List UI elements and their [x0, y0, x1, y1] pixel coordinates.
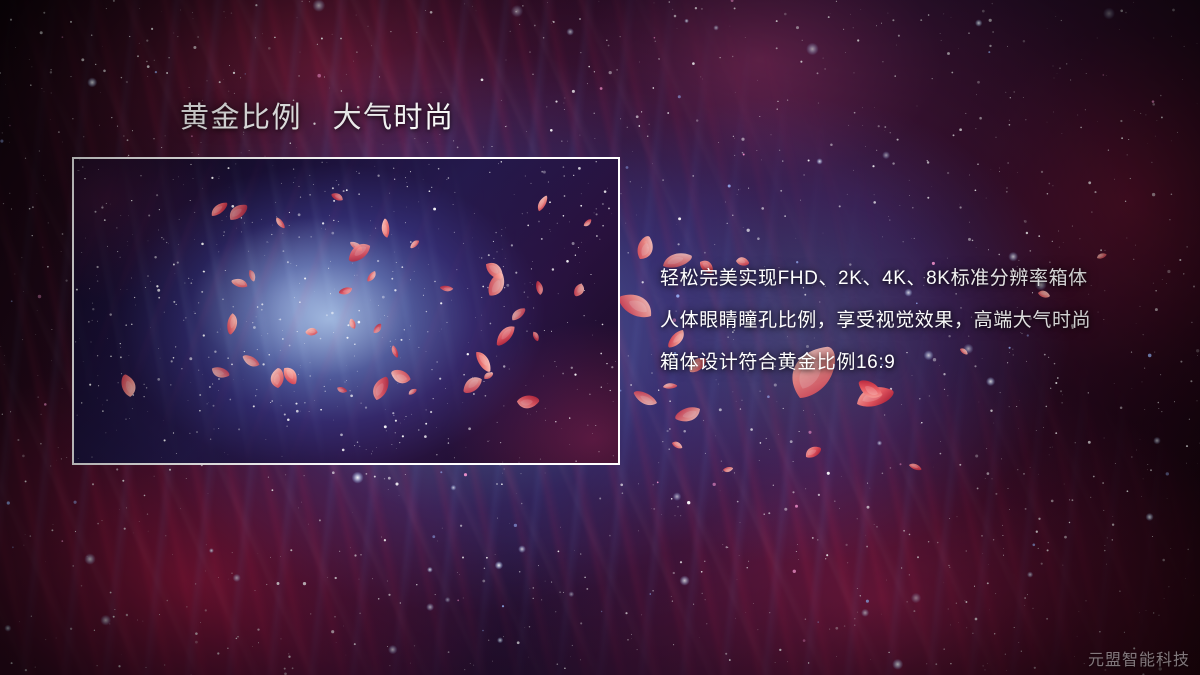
featured-image [74, 159, 618, 463]
featured-image-frame[interactable] [72, 157, 620, 465]
body-text-block: 轻松完美实现FHD、2K、4K、8K标准分辨率箱体 人体眼睛瞳孔比例，享受视觉效… [660, 258, 1180, 384]
body-line-3: 箱体设计符合黄金比例16:9 [660, 342, 1180, 384]
featured-image-petals [74, 159, 618, 463]
body-line-1: 轻松完美实现FHD、2K、4K、8K标准分辨率箱体 [660, 258, 1180, 300]
body-line-2: 人体眼睛瞳孔比例，享受视觉效果，高端大气时尚 [660, 300, 1180, 342]
watermark: 元盟智能科技 [1088, 646, 1190, 670]
page-title: 黄金比例 大气时尚 [180, 100, 455, 136]
presentation-slide: 黄金比例 大气时尚 轻松完美实现FHD、2K、4K、8K标准分辨率箱体 人体眼睛… [0, 0, 1200, 675]
